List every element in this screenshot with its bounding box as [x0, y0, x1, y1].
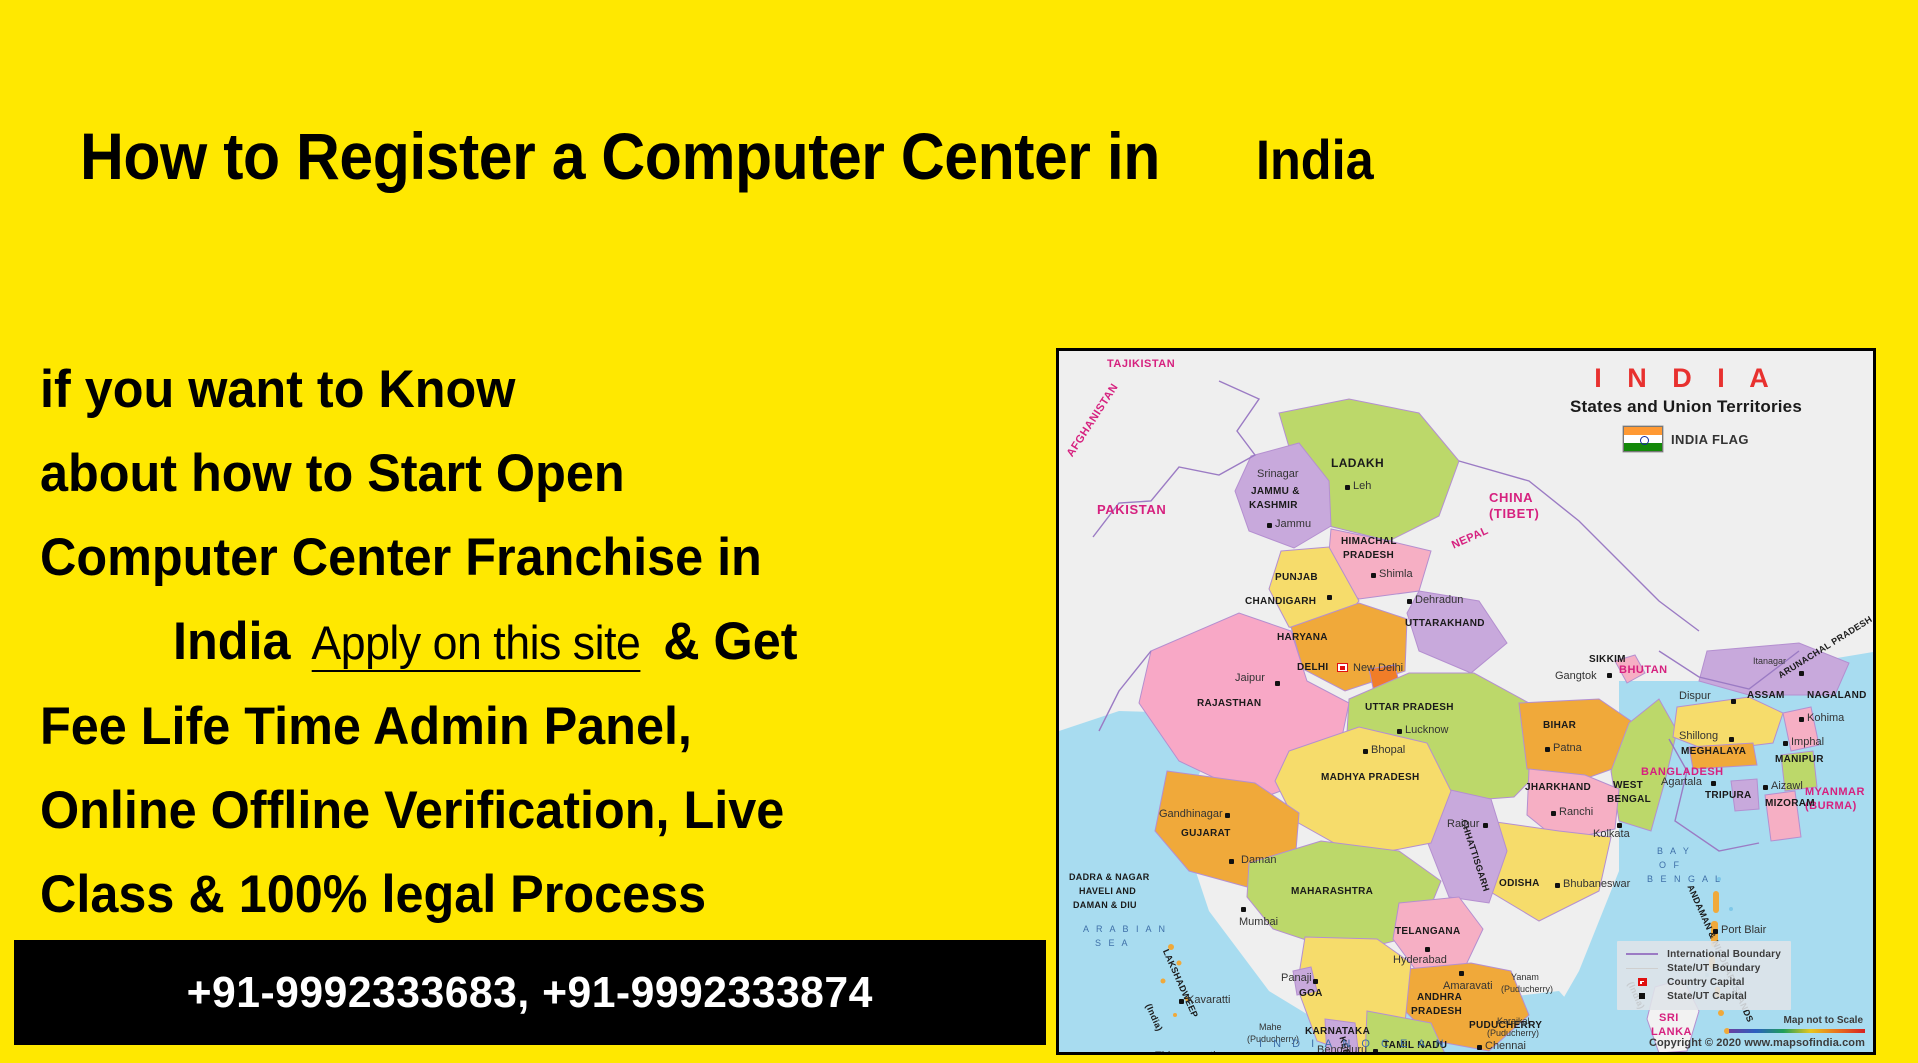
capital-dot-shillong [1729, 737, 1734, 742]
label-mahe-1: Mahe [1259, 1023, 1282, 1032]
label-andhra-pradesh-1: ANDHRA [1417, 993, 1462, 1004]
label-west-bengal-2: BENGAL [1607, 795, 1651, 806]
india-flag-icon [1623, 426, 1663, 452]
page-title-country: India [1256, 127, 1374, 192]
india-flag-label: INDIA FLAG [1671, 432, 1749, 447]
label-bay-of-bengal-3: B E N G A L [1647, 875, 1723, 884]
label-ladakh: LADAKH [1331, 457, 1384, 470]
capital-dot-bhopal [1363, 749, 1368, 754]
label-itanagar: Itanagar [1753, 657, 1786, 666]
legend-row-international-boundary: International Boundary [1625, 947, 1781, 961]
label-china: CHINA [1489, 491, 1533, 505]
capital-dot-kavaratti [1179, 999, 1184, 1004]
legend-label-state-boundary: State/UT Boundary [1667, 963, 1760, 974]
label-karaikal-1: Karaikal [1497, 1017, 1530, 1026]
capital-dot-bhubaneswar [1555, 883, 1560, 888]
rainbow-divider [1729, 1029, 1865, 1033]
label-yanam-2: (Puducherry) [1501, 985, 1553, 994]
label-dnh-1: DADRA & NAGAR [1069, 873, 1150, 882]
body-line-4-india: India [173, 612, 291, 671]
contact-phone-banner: +91-9992333683, +91-9992333874 [14, 940, 1046, 1045]
label-kavaratti: Kavaratti [1187, 995, 1230, 1007]
label-arabian-sea-2: S E A [1095, 939, 1130, 948]
label-himachal-1: HIMACHAL [1341, 537, 1397, 548]
label-pakistan: PAKISTAN [1097, 503, 1166, 517]
label-patna: Patna [1553, 743, 1582, 755]
legend-label-country-capital: Country Capital [1667, 977, 1744, 988]
label-leh: Leh [1353, 481, 1371, 493]
body-line-2: about how to Start Open [40, 432, 1000, 516]
label-shillong: Shillong [1679, 731, 1718, 743]
label-sikkim: SIKKIM [1589, 655, 1626, 666]
label-madhya-pradesh: MADHYA PRADESH [1321, 773, 1419, 784]
body-line-5: Fee Life Time Admin Panel, [40, 685, 1000, 769]
map-scale-note: Map not to Scale [1784, 1015, 1863, 1026]
india-map-panel: I N D I A States and Union Territories I… [1056, 348, 1876, 1055]
label-jammu-kashmir-2: KASHMIR [1249, 501, 1298, 512]
capital-dot-itanagar [1799, 671, 1804, 676]
label-karaikal-2: (Puducherry) [1487, 1029, 1539, 1038]
capital-dot-leh [1345, 485, 1350, 490]
label-goa: GOA [1299, 989, 1323, 1000]
label-sri-lanka: SRI [1659, 1013, 1679, 1025]
label-amaravati: Amaravati [1443, 981, 1493, 993]
label-bay-of-bengal-2: O F [1659, 861, 1682, 870]
capital-dot-shimla [1371, 573, 1376, 578]
capital-dot-imphal [1783, 741, 1788, 746]
label-jharkhand: JHARKHAND [1525, 783, 1591, 794]
legend-row-state-boundary: State/UT Boundary [1625, 961, 1781, 975]
label-nagaland: NAGALAND [1807, 691, 1867, 702]
label-punjab: PUNJAB [1275, 573, 1318, 584]
capital-dot-dispur [1731, 699, 1736, 704]
capital-dot-kohima [1799, 717, 1804, 722]
label-chandigarh: CHANDIGARH [1245, 597, 1316, 608]
label-telangana: TELANGANA [1395, 927, 1460, 938]
map-legend: International Boundary State/UT Boundary… [1617, 941, 1791, 1010]
capital-dot-lucknow [1397, 729, 1402, 734]
label-hyderabad: Hyderabad [1393, 955, 1447, 967]
capital-dot-hyderabad [1425, 947, 1430, 952]
label-panaji: Panaji [1281, 973, 1312, 985]
label-tripura: TRIPURA [1705, 791, 1752, 802]
label-haryana: HARYANA [1277, 633, 1328, 644]
country-capital-icon [1625, 978, 1659, 986]
legend-row-country-capital: Country Capital [1625, 975, 1781, 989]
capital-dot-chennai [1477, 1045, 1482, 1050]
capital-dot-amaravati [1459, 971, 1464, 976]
label-tajikistan: TAJIKISTAN [1107, 359, 1175, 371]
label-kolkata: Kolkata [1593, 829, 1630, 841]
body-line-1: if you want to Know [40, 348, 1000, 432]
label-uttarakhand: UTTARAKHAND [1405, 619, 1485, 630]
label-mizoram: MIZORAM [1765, 799, 1815, 810]
label-assam: ASSAM [1747, 691, 1785, 702]
label-uttar-pradesh: UTTAR PRADESH [1365, 703, 1454, 714]
label-bhopal: Bhopal [1371, 745, 1405, 757]
india-map-canvas: I N D I A States and Union Territories I… [1059, 351, 1873, 1052]
label-raipur: Raipur [1447, 819, 1479, 831]
label-chennai: Chennai [1485, 1041, 1526, 1053]
apply-on-site-link[interactable]: Apply on this site [311, 616, 640, 672]
label-jammu: Jammu [1275, 519, 1311, 531]
label-gandhinagar: Gandhinagar [1159, 809, 1223, 821]
india-flag-row: INDIA FLAG [1521, 426, 1851, 452]
label-dispur: Dispur [1679, 691, 1711, 703]
capital-dot-chandigarh [1327, 595, 1332, 600]
label-mumbai: Mumbai [1239, 917, 1278, 929]
label-china-tibet: (TIBET) [1489, 507, 1539, 521]
label-karnataka: KARNATAKA [1305, 1027, 1370, 1038]
body-line-6: Online Offline Verification, Live [40, 769, 1000, 853]
map-copyright: Copyright © 2020 www.mapsofindia.com [1649, 1037, 1865, 1049]
capital-dot-dehradun [1407, 599, 1412, 604]
capital-dot-port-blair [1713, 929, 1718, 934]
page-title-main: How to Register a Computer Center in [80, 118, 1160, 194]
label-myanmar: MYANMAR [1805, 787, 1865, 799]
label-gujarat: GUJARAT [1181, 829, 1231, 840]
label-bay-of-bengal-1: B A Y [1657, 847, 1691, 856]
phone-numbers[interactable]: +91-9992333683, +91-9992333874 [187, 968, 873, 1018]
label-bihar: BIHAR [1543, 721, 1576, 732]
capital-dot-mumbai [1241, 907, 1246, 912]
capital-dot-agartala [1711, 781, 1716, 786]
label-rajasthan: RAJASTHAN [1197, 699, 1261, 710]
legend-row-state-capital: State/UT Capital [1625, 989, 1781, 1003]
label-gangtok: Gangtok [1555, 671, 1597, 683]
map-subtitle: States and Union Territories [1521, 397, 1851, 417]
capital-dot-daman [1229, 859, 1234, 864]
label-imphal: Imphal [1791, 737, 1824, 749]
body-line-4-get: & Get [663, 612, 797, 671]
country-capital-marker [1337, 663, 1348, 672]
label-agartala: Agartala [1661, 777, 1702, 789]
label-kohima: Kohima [1807, 713, 1844, 725]
promo-body-text: if you want to Know about how to Start O… [40, 348, 1050, 937]
label-dehradun: Dehradun [1415, 595, 1463, 607]
page-title: How to Register a Computer Center inIndi… [80, 118, 1780, 194]
label-meghalaya: MEGHALAYA [1681, 747, 1746, 758]
capital-dot-ranchi [1551, 811, 1556, 816]
body-line-7: Class & 100% legal Process [40, 853, 1000, 937]
label-new-delhi: New Delhi [1353, 663, 1403, 675]
label-ranchi: Ranchi [1559, 807, 1593, 819]
international-boundary-icon [1625, 953, 1659, 955]
capital-dot-panaji [1313, 979, 1318, 984]
map-title-block: I N D I A States and Union Territories I… [1521, 363, 1851, 452]
label-jaipur: Jaipur [1235, 673, 1265, 685]
capital-dot-jammu [1267, 523, 1272, 528]
label-dnh-3: DAMAN & DIU [1073, 901, 1137, 910]
legend-label-state-capital: State/UT Capital [1667, 991, 1747, 1002]
label-indian-ocean: I N D I A N O C E A N [1259, 1039, 1448, 1051]
label-bhubaneswar: Bhubaneswar [1563, 879, 1630, 891]
label-lucknow: Lucknow [1405, 725, 1448, 737]
label-shimla: Shimla [1379, 569, 1413, 581]
label-manipur: MANIPUR [1775, 755, 1824, 766]
label-dnh-2: HAVELI AND [1079, 887, 1136, 896]
label-jammu-kashmir-1: JAMMU & [1251, 487, 1300, 498]
capital-dot-gangtok [1607, 673, 1612, 678]
label-west-bengal-1: WEST [1613, 781, 1643, 792]
label-aizawl: Aizawl [1771, 781, 1803, 793]
state-capital-icon [1625, 993, 1659, 999]
body-line-4: IndiaApply on this site& Get [40, 600, 1000, 685]
capital-dot-jaipur [1275, 681, 1280, 686]
label-himachal-2: PRADESH [1343, 551, 1394, 562]
capital-dot-patna [1545, 747, 1550, 752]
label-arabian-sea-1: A R A B I A N [1083, 925, 1168, 934]
label-andhra-pradesh-2: PRADESH [1411, 1007, 1462, 1018]
label-bhutan: BHUTAN [1619, 665, 1668, 677]
map-title: I N D I A [1521, 363, 1851, 394]
label-odisha: ODISHA [1499, 879, 1540, 890]
label-maharashtra: MAHARASHTRA [1291, 887, 1373, 898]
label-daman: Daman [1241, 855, 1276, 867]
label-port-blair: Port Blair [1721, 925, 1766, 937]
body-line-3: Computer Center Franchise in [40, 516, 1000, 600]
label-yanam-1: Yanam [1511, 973, 1539, 982]
legend-label-international-boundary: International Boundary [1667, 949, 1781, 960]
state-boundary-icon [1625, 968, 1659, 969]
capital-dot-raipur [1483, 823, 1488, 828]
label-srinagar: Srinagar [1257, 469, 1299, 481]
capital-dot-gandhinagar [1225, 813, 1230, 818]
label-thiruvananthapuram: Thiruvananthapuram [1155, 1051, 1257, 1055]
label-delhi: DELHI [1297, 663, 1329, 674]
capital-dot-aizawl [1763, 785, 1768, 790]
